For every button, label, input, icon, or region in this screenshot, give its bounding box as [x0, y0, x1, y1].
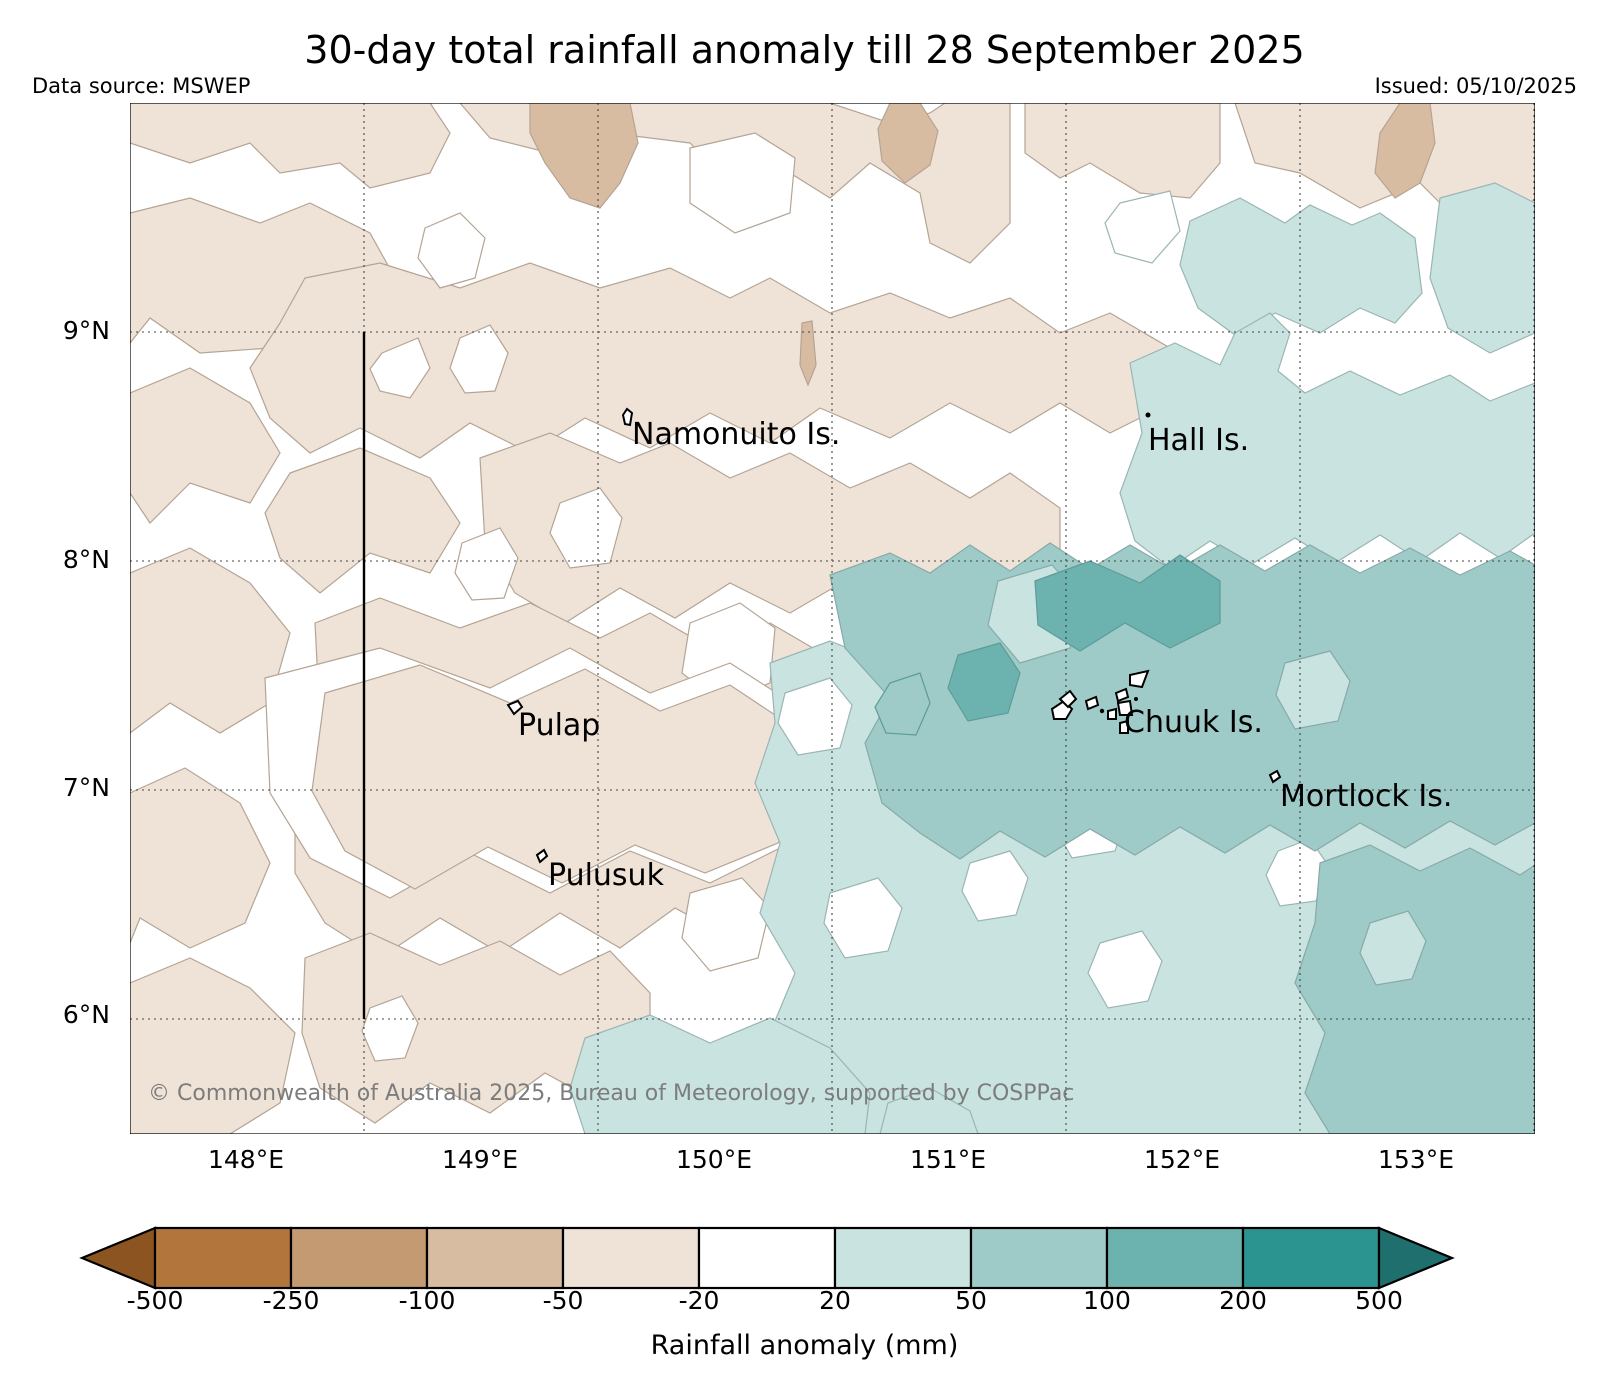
island-label-mortlock: Mortlock Is.	[1280, 779, 1452, 814]
island-label-pulusuk: Pulusuk	[548, 858, 664, 893]
colorbar-tick--20: -20	[639, 1286, 759, 1315]
y-tick-label-7n: 7°N	[0, 773, 110, 802]
y-tick-label-6n: 6°N	[0, 1000, 110, 1029]
data-source-label: Data source: MSWEP	[32, 74, 250, 98]
colorbar-tick-50: 50	[911, 1286, 1031, 1315]
colorbar-extend-high	[1379, 1228, 1452, 1288]
x-tick-label-150e: 150°E	[644, 1145, 784, 1174]
colorbar-title: Rainfall anomaly (mm)	[0, 1330, 1609, 1361]
x-tick-label-151e: 151°E	[878, 1145, 1018, 1174]
island-label-hall: Hall Is.	[1148, 423, 1249, 458]
colorbar-tick--500: -500	[95, 1286, 215, 1315]
x-tick-label-153e: 153°E	[1346, 1145, 1486, 1174]
y-tick-label-9n: 9°N	[0, 316, 110, 345]
rainfall-anomaly-map-page: 30-day total rainfall anomaly till 28 Se…	[0, 0, 1609, 1380]
x-tick-label-148e: 148°E	[176, 1145, 316, 1174]
colorbar-tick-500: 500	[1319, 1286, 1439, 1315]
y-tick-label-8n: 8°N	[0, 545, 110, 574]
rainfall-contour-map	[130, 103, 1535, 1134]
colorbar-tick--100: -100	[367, 1286, 487, 1315]
x-tick-label-149e: 149°E	[410, 1145, 550, 1174]
colorbar-tick-100: 100	[1047, 1286, 1167, 1315]
colorbar-extend-low	[82, 1228, 155, 1288]
x-tick-label-152e: 152°E	[1112, 1145, 1252, 1174]
island-label-chuuk: Chuuk Is.	[1124, 705, 1263, 740]
issued-date-label: Issued: 05/10/2025	[1375, 74, 1577, 98]
colorbar-tick--50: -50	[503, 1286, 623, 1315]
island-label-pulap: Pulap	[518, 708, 600, 743]
page-title: 30-day total rainfall anomaly till 28 Se…	[0, 28, 1609, 72]
colorbar-tick--250: -250	[231, 1286, 351, 1315]
colorbar-tick-200: 200	[1183, 1286, 1303, 1315]
colorbar-tick-20: 20	[775, 1286, 895, 1315]
island-label-namonuito: Namonuito Is.	[632, 417, 840, 452]
